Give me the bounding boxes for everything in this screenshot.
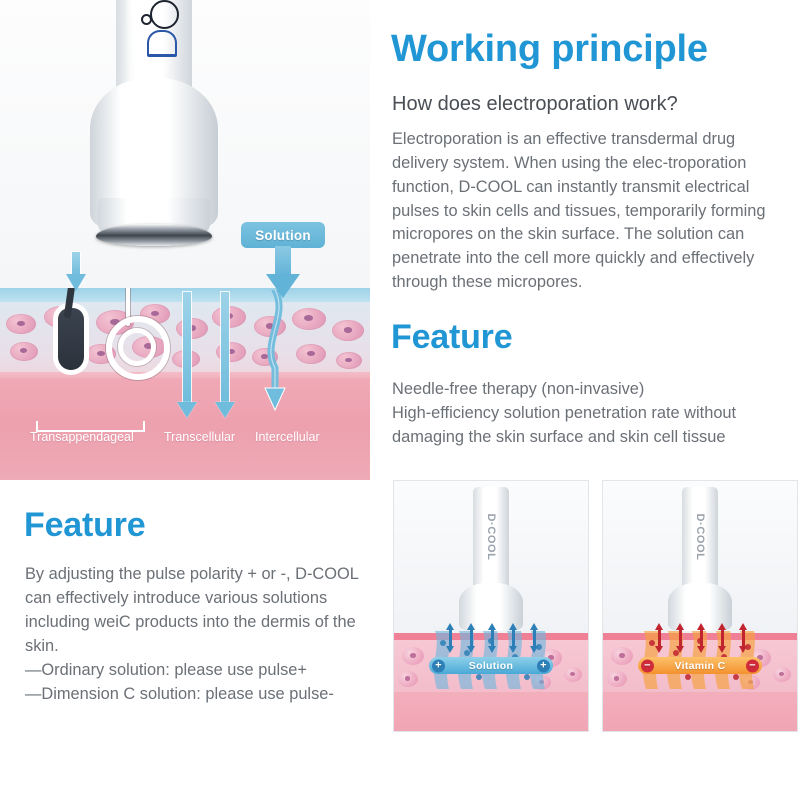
power-ring-icon bbox=[150, 0, 179, 29]
route-label-transappendageal: Transappendageal bbox=[30, 430, 134, 444]
panel-device-logo: D·COOL bbox=[694, 514, 706, 561]
solution-down-arrow-icon bbox=[266, 246, 300, 298]
infographic-page: Solution Transappendageal Transcellular … bbox=[0, 0, 800, 800]
feature-right-body: Needle-free therapy (non-invasive) High-… bbox=[392, 378, 782, 450]
panel-hypodermis bbox=[394, 692, 588, 731]
pulse-arrow bbox=[676, 623, 685, 653]
pulse-arrow bbox=[488, 623, 497, 653]
intercellular-arrow bbox=[255, 290, 295, 416]
vitamin-c-panel: D·COOL − Vitamin C − bbox=[602, 480, 798, 732]
pulse-arrow bbox=[739, 623, 748, 653]
working-principle-subtitle: How does electroporation work? bbox=[392, 92, 678, 117]
panel-cell bbox=[398, 671, 418, 687]
gland-coil-inner bbox=[118, 328, 156, 366]
pulse-arrow bbox=[718, 623, 727, 653]
working-principle-body: Electroporation is an effective transder… bbox=[392, 128, 782, 295]
skin-cell bbox=[296, 344, 326, 364]
solution-pill-label: Solution bbox=[469, 660, 513, 672]
panel-device-logo: D·COOL bbox=[485, 514, 497, 561]
panel-cell bbox=[564, 667, 582, 682]
pulse-arrow bbox=[446, 623, 455, 653]
skin-cell bbox=[10, 342, 38, 361]
feature-right-title: Feature bbox=[391, 320, 512, 354]
feature-left-title: Feature bbox=[24, 508, 145, 542]
solution-badge: Solution bbox=[241, 222, 325, 248]
feature-left-body: By adjusting the pulse polarity + or -, … bbox=[25, 562, 375, 706]
dcool-logo-mark bbox=[140, 0, 180, 52]
chrome-ring bbox=[96, 224, 212, 246]
hair-follicle bbox=[52, 288, 96, 392]
indicator-dot-icon bbox=[141, 14, 152, 25]
skin-cell bbox=[332, 320, 364, 341]
skin-cell bbox=[336, 352, 362, 369]
solution-pill: + Solution + bbox=[429, 657, 553, 674]
pulse-arrow bbox=[697, 623, 706, 653]
panel-device: D·COOL bbox=[459, 487, 523, 627]
vitamin-c-pill: − Vitamin C − bbox=[638, 657, 762, 674]
skin-cell bbox=[6, 314, 36, 334]
panel-cell bbox=[402, 647, 424, 665]
transcellular-arrow-1 bbox=[178, 292, 196, 420]
solution-panel: D·COOL + Solution + bbox=[393, 480, 589, 732]
pulse-arrow bbox=[467, 623, 476, 653]
transappendageal-arrow bbox=[66, 252, 86, 294]
panel-hypodermis bbox=[603, 692, 797, 731]
route-label-intercellular: Intercellular bbox=[255, 430, 320, 444]
d-arch-icon bbox=[147, 30, 177, 57]
pulse-arrow bbox=[655, 623, 664, 653]
follicle-bulb bbox=[58, 308, 84, 370]
minus-sign-right: − bbox=[746, 659, 759, 672]
pulse-arrow bbox=[509, 623, 518, 653]
skin-cell bbox=[292, 308, 326, 330]
transcellular-arrow-2 bbox=[216, 292, 234, 420]
dcool-device bbox=[88, 0, 220, 296]
electroporation-illustration: Solution Transappendageal Transcellular … bbox=[0, 0, 370, 480]
plus-sign-right: + bbox=[537, 659, 550, 672]
panel-device: D·COOL bbox=[668, 487, 732, 627]
sweat-gland bbox=[100, 288, 166, 376]
vitamin-c-pill-label: Vitamin C bbox=[675, 660, 726, 672]
working-principle-title: Working principle bbox=[391, 30, 708, 68]
pulse-arrow bbox=[530, 623, 539, 653]
route-label-transcellular: Transcellular bbox=[164, 430, 235, 444]
panel-cell bbox=[611, 647, 633, 665]
panel-cell bbox=[607, 671, 627, 687]
panel-cell bbox=[773, 667, 791, 682]
minus-sign-left: − bbox=[641, 659, 654, 672]
plus-sign-left: + bbox=[432, 659, 445, 672]
